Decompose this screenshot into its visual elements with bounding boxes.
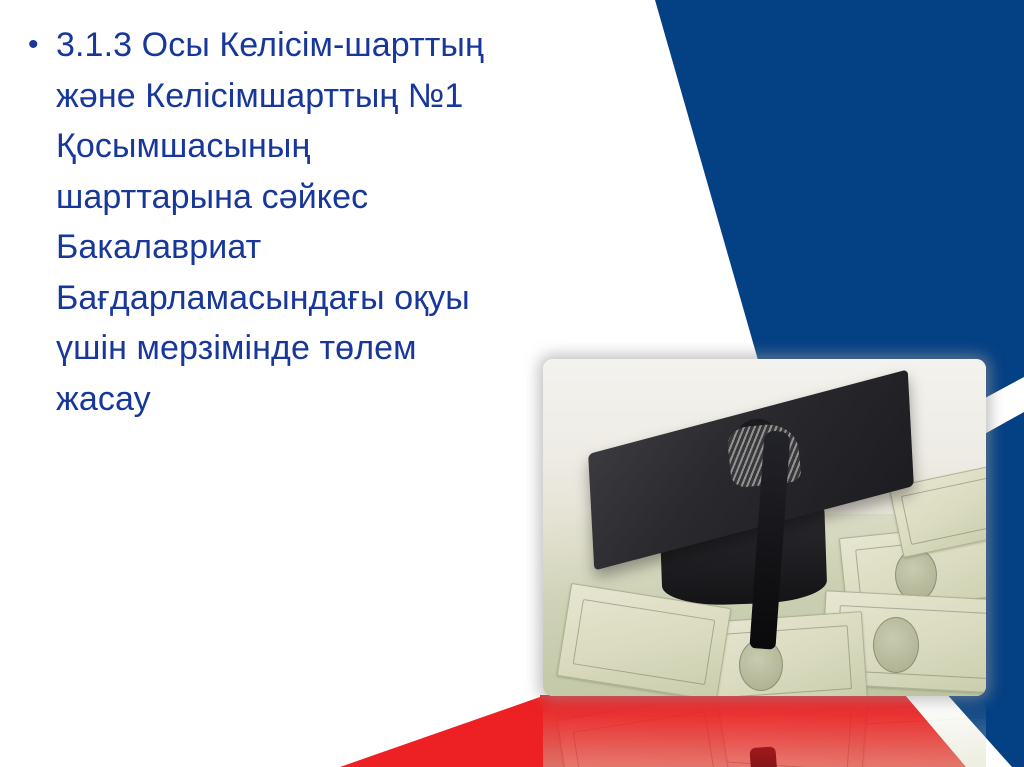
photo-reflection-content <box>543 700 986 767</box>
bullet-point-icon: • <box>18 20 56 70</box>
photo-content <box>543 359 986 696</box>
bullet-list-item: • 3.1.3 Осы Келісім-шарттың және Келісім… <box>18 20 538 424</box>
bullet-item-text: 3.1.3 Осы Келісім-шарттың және Келісімша… <box>56 20 538 424</box>
dollar-bill-portrait-oval <box>895 549 937 601</box>
presentation-slide: • 3.1.3 Осы Келісім-шарттың және Келісім… <box>0 0 1024 767</box>
graduation-cap-on-money-photo <box>543 359 986 696</box>
slide-body-content: • 3.1.3 Осы Келісім-шарттың және Келісім… <box>18 20 538 424</box>
photo-reflection <box>543 700 986 767</box>
dollar-bill-portrait-oval <box>873 617 919 673</box>
